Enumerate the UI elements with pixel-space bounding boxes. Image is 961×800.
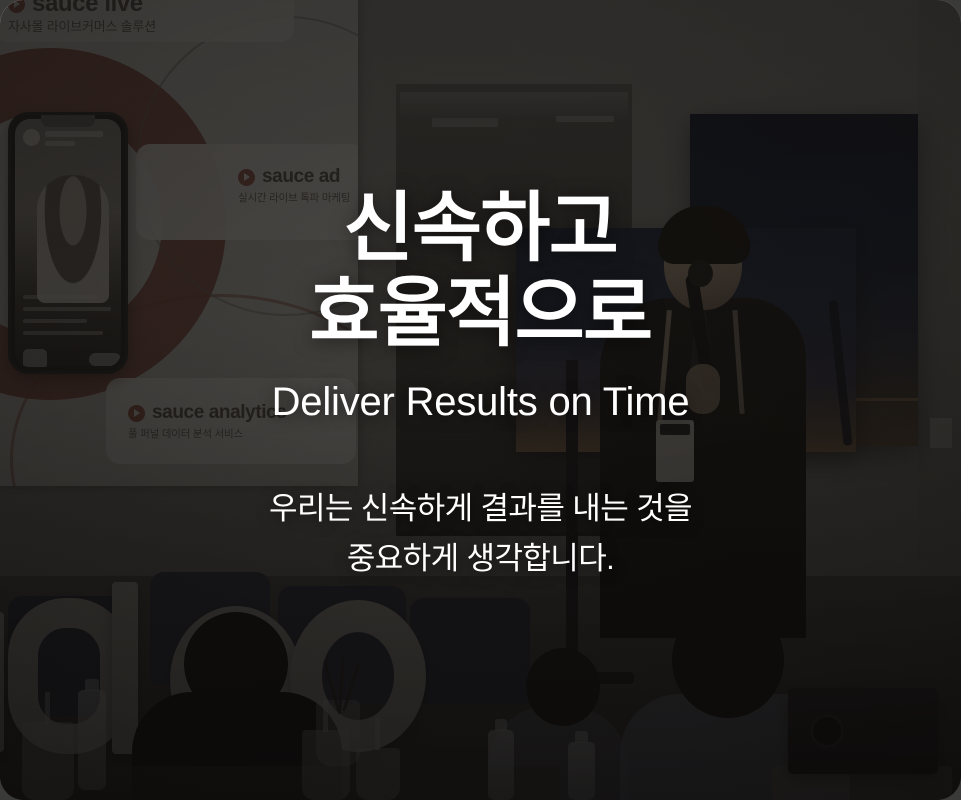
hero-content: 신속하고 효율적으로 Deliver Results on Time 우리는 신… <box>0 0 961 800</box>
page-title: 신속하고 효율적으로 <box>309 186 651 356</box>
hero-subheadline: Deliver Results on Time <box>272 378 690 426</box>
hero-banner: sauce live 자사몰 라이브커머스 솔루션 sauce ad 실시간 라… <box>0 0 961 800</box>
headline-wrap: 신속하고 효율적으로 <box>309 186 651 356</box>
hero-body-text: 우리는 신속하게 결과를 내는 것을 중요하게 생각합니다. <box>269 484 692 584</box>
